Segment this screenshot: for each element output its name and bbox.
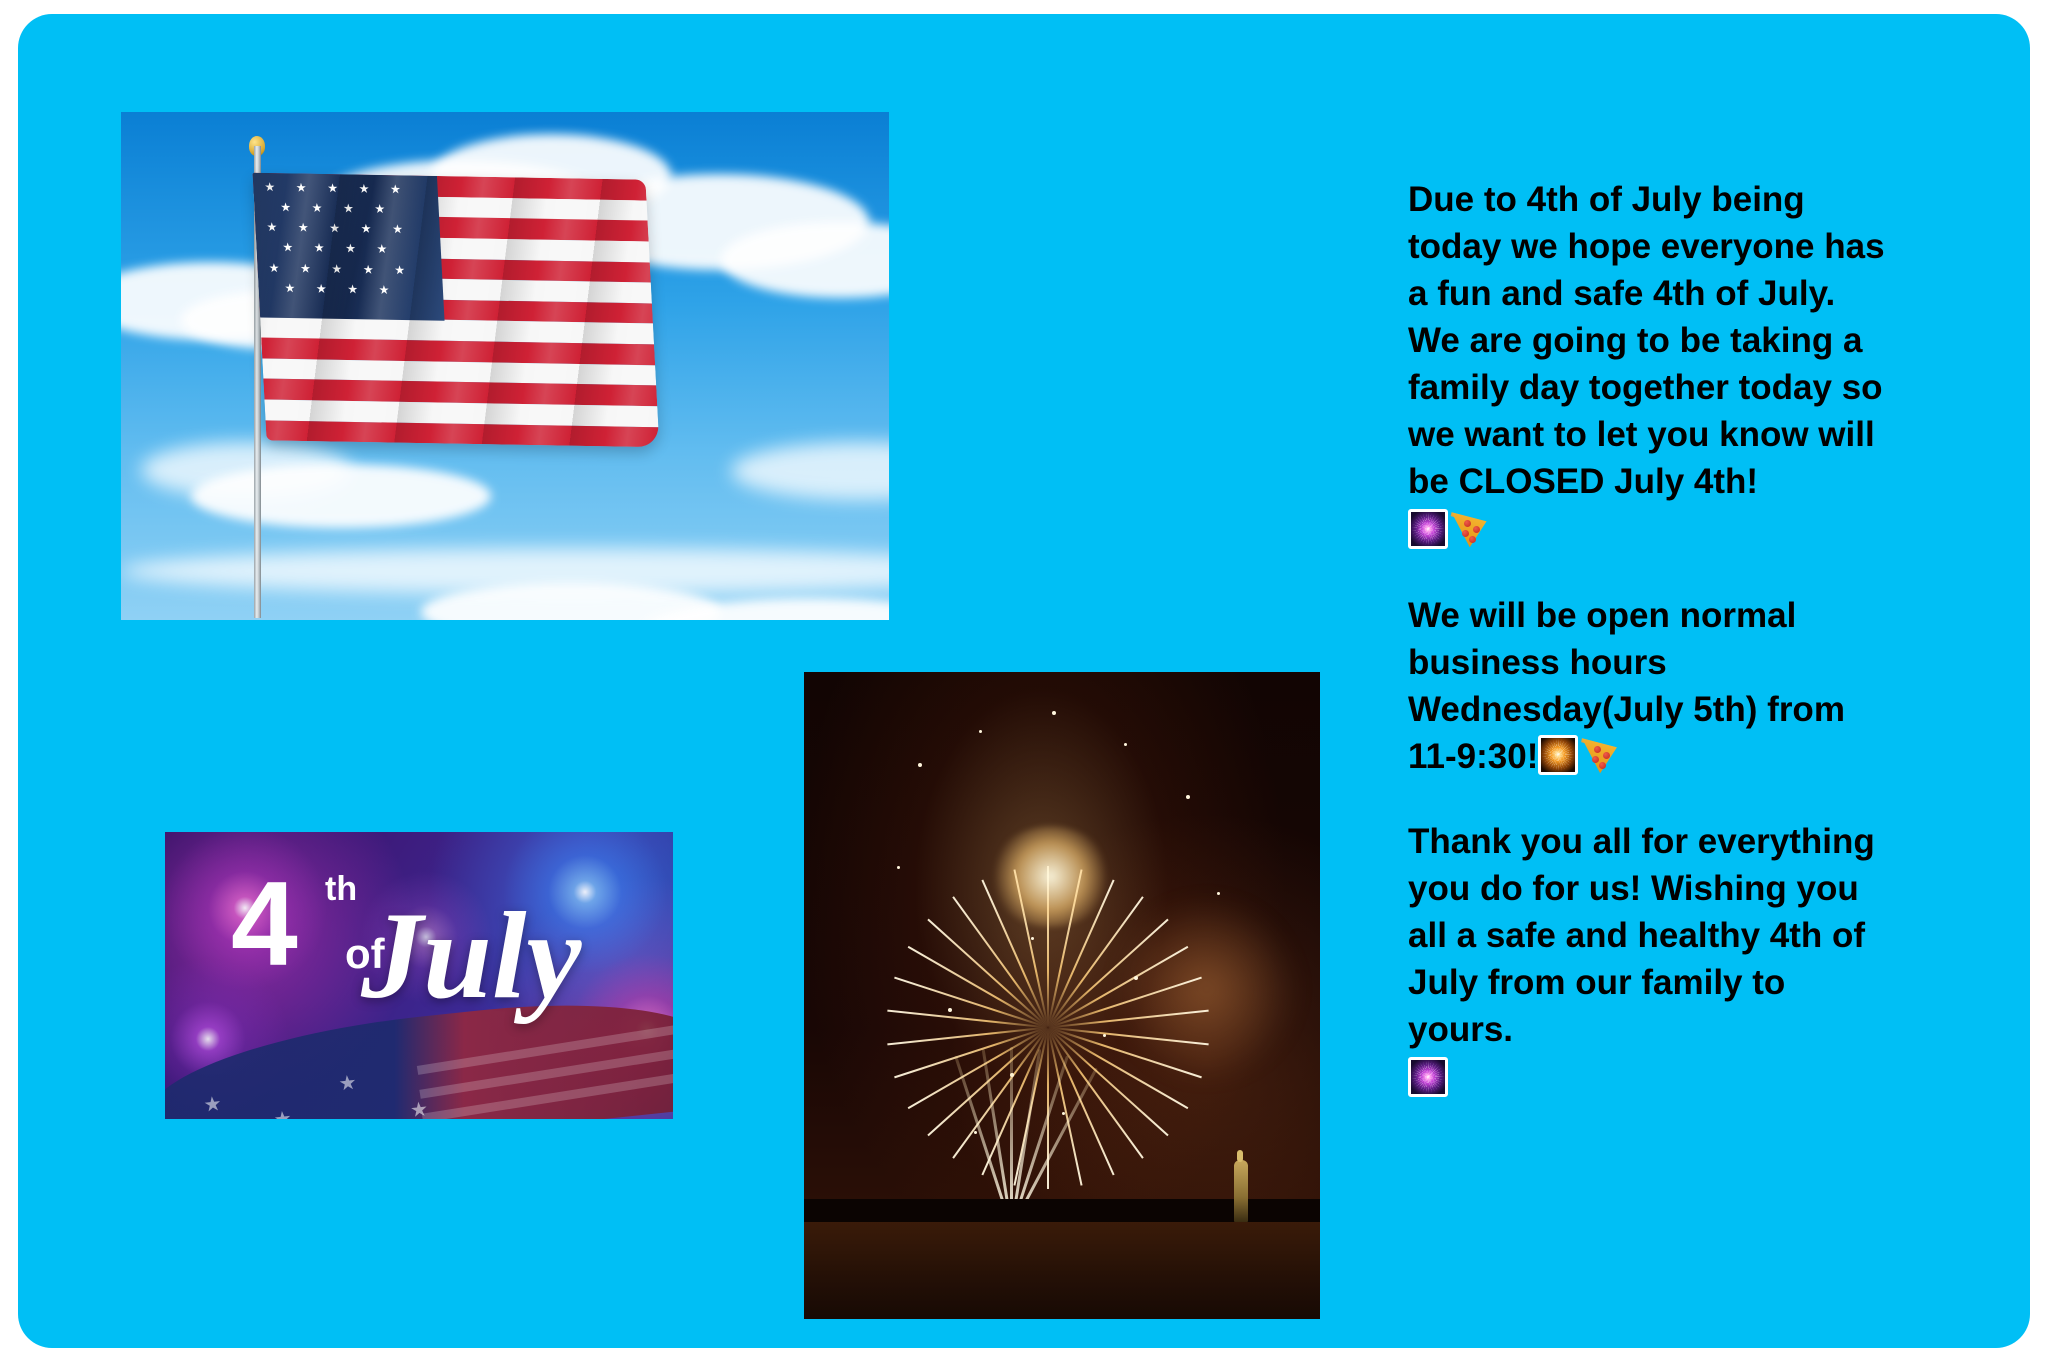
fourth-of-july-banner: ★ ★ ★ ★ ★ ★ 4 th of July [165, 832, 673, 1119]
banner-july-text: July [361, 894, 581, 1018]
pizza-emoji [1448, 508, 1490, 550]
thank-you-emoji-row [1408, 1055, 1888, 1102]
american-flag-photo: ★ ★ ★ ★ ★ ★ ★ ★ ★ ★ ★ ★ ★ ★ ★ ★ ★ ★ ★ ★ [121, 112, 889, 620]
message-column: Due to 4th of July being today we hope e… [1408, 176, 1888, 1102]
flag-canton: ★ ★ ★ ★ ★ ★ ★ ★ ★ ★ ★ ★ ★ ★ ★ ★ ★ ★ ★ ★ [253, 173, 445, 321]
fireworks-over-water-photo [804, 672, 1320, 1319]
paragraph-closed-notice: Due to 4th of July being today we hope e… [1408, 176, 1888, 554]
cloud-shape [731, 442, 889, 500]
banner-four-text: 4 [231, 864, 294, 984]
pizza-emoji [1578, 734, 1620, 776]
paragraph-reopen-notice: We will be open normal business hours We… [1408, 592, 1888, 780]
water-reflection [804, 1222, 1320, 1319]
notice-card: ★ ★ ★ ★ ★ ★ ★ ★ ★ ★ ★ ★ ★ ★ ★ ★ ★ ★ ★ ★ [18, 14, 2030, 1348]
thank-you-notice-text: Thank you all for everything you do for … [1408, 822, 1875, 1049]
fireworks-purple-emoji [1408, 509, 1448, 549]
statue-of-liberty-silhouette [1234, 1160, 1248, 1222]
flag-fabric: ★ ★ ★ ★ ★ ★ ★ ★ ★ ★ ★ ★ ★ ★ ★ ★ ★ ★ ★ ★ [253, 173, 660, 447]
fireworks-purple-emoji [1408, 1057, 1448, 1097]
closed-notice-emoji-row [1408, 507, 1888, 554]
banner-text-group: 4 th of July [165, 832, 673, 1119]
firework-main-burst [866, 698, 1227, 1034]
fireworks-orange-emoji [1538, 735, 1578, 775]
reopen-notice-text: We will be open normal business hours We… [1408, 596, 1845, 776]
cloud-shape [191, 464, 491, 528]
firework-core-glow [989, 826, 1112, 927]
banner-th-text: th [325, 870, 357, 909]
closed-notice-text: Due to 4th of July being today we hope e… [1408, 180, 1885, 501]
paragraph-thank-you-notice: Thank you all for everything you do for … [1408, 818, 1888, 1102]
cloud-shape [121, 548, 889, 594]
